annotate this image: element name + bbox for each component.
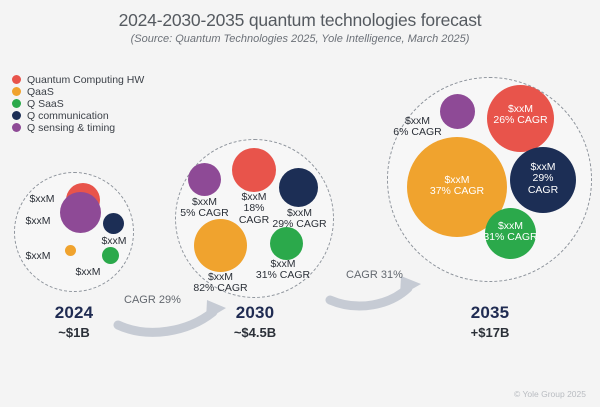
page-title: 2024-2030-2035 quantum technologies fore… [0,10,600,31]
bubble-2024-q-saas[interactable] [102,247,119,264]
bubble-2030-q-communication[interactable] [279,168,318,207]
bubble-label-2035-quantum-computing-hw: $xxM 26% CAGR [487,104,554,127]
year-label: 2030 [185,303,325,323]
bubble-label-2035-qaas: $xxM 37% CAGR [407,175,507,198]
year-label: 2035 [420,303,560,323]
forecast-infographic: 2024-2030-2035 quantum technologies fore… [0,0,600,407]
legend-item-label: Quantum Computing HW [27,74,144,86]
bubble-2035-q-sensing-timing[interactable] [440,94,475,129]
legend-dot-icon [12,111,21,120]
legend-item-label: QaaS [27,86,54,98]
legend-item-q-saas[interactable]: Q SaaS [12,98,144,109]
year-block-2024: 2024 ~$1B [4,303,144,340]
year-total-value: +$17B [420,325,560,340]
bubble-label-2024-q-sensing-timing: $xxM [16,216,60,227]
bubble-label-2024-q-saas: $xxM [66,267,110,278]
year-total-value: ~$4.5B [185,325,325,340]
year-block-2035: 2035 +$17B [420,303,560,340]
bubble-label-2030-qaas: $xxM 82% CAGR [192,272,249,295]
bubble-label-2024-qaas: $xxM [16,251,60,262]
bubble-2030-qaas[interactable] [194,219,247,272]
page-subtitle: (Source: Quantum Technologies 2025, Yole… [0,33,600,45]
legend-dot-icon [12,99,21,108]
legend: Quantum Computing HW QaaS Q SaaS Q commu… [12,74,144,134]
year-block-2030: 2030 ~$4.5B [185,303,325,340]
bubble-label-2035-q-sensing-timing: $xxM 6% CAGR [391,116,444,139]
bubble-label-2030-q-saas: $xxM 31% CAGR [253,259,313,282]
bubble-label-2024-quantum-computing-hw: $xxM [20,194,64,205]
year-total-value: ~$1B [4,325,144,340]
legend-item-qaas[interactable]: QaaS [12,86,144,97]
legend-item-q-sensing-timing[interactable]: Q sensing & timing [12,122,144,133]
legend-dot-icon [12,87,21,96]
year-label: 2024 [4,303,144,323]
legend-item-label: Q sensing & timing [27,122,115,134]
bubble-2030-q-saas[interactable] [270,227,303,260]
bubble-label-2035-q-communication: $xxM 29% CAGR [510,162,576,196]
bubble-2024-qaas[interactable] [65,245,76,256]
legend-item-quantum-computing-hw[interactable]: Quantum Computing HW [12,74,144,85]
legend-dot-icon [12,75,21,84]
legend-dot-icon [12,123,21,132]
legend-item-label: Q communication [27,110,109,122]
cagr-label-2030-2035: CAGR 31% [346,269,403,281]
bubble-label-2035-q-saas: $xxM 31% CAGR [478,221,543,244]
copyright-credit: © Yole Group 2025 [514,389,586,399]
bubble-label-2024-q-communication: $xxM [92,236,136,247]
bubble-2024-q-sensing-timing[interactable] [60,192,101,233]
legend-item-label: Q SaaS [27,98,64,110]
bubble-2030-quantum-computing-hw[interactable] [232,148,276,192]
legend-item-q-communication[interactable]: Q communication [12,110,144,121]
bubble-label-2030-q-sensing-timing: $xxM 5% CAGR [176,197,233,220]
bubble-2024-q-communication[interactable] [103,213,124,234]
bubble-2030-q-sensing-timing[interactable] [188,163,221,196]
